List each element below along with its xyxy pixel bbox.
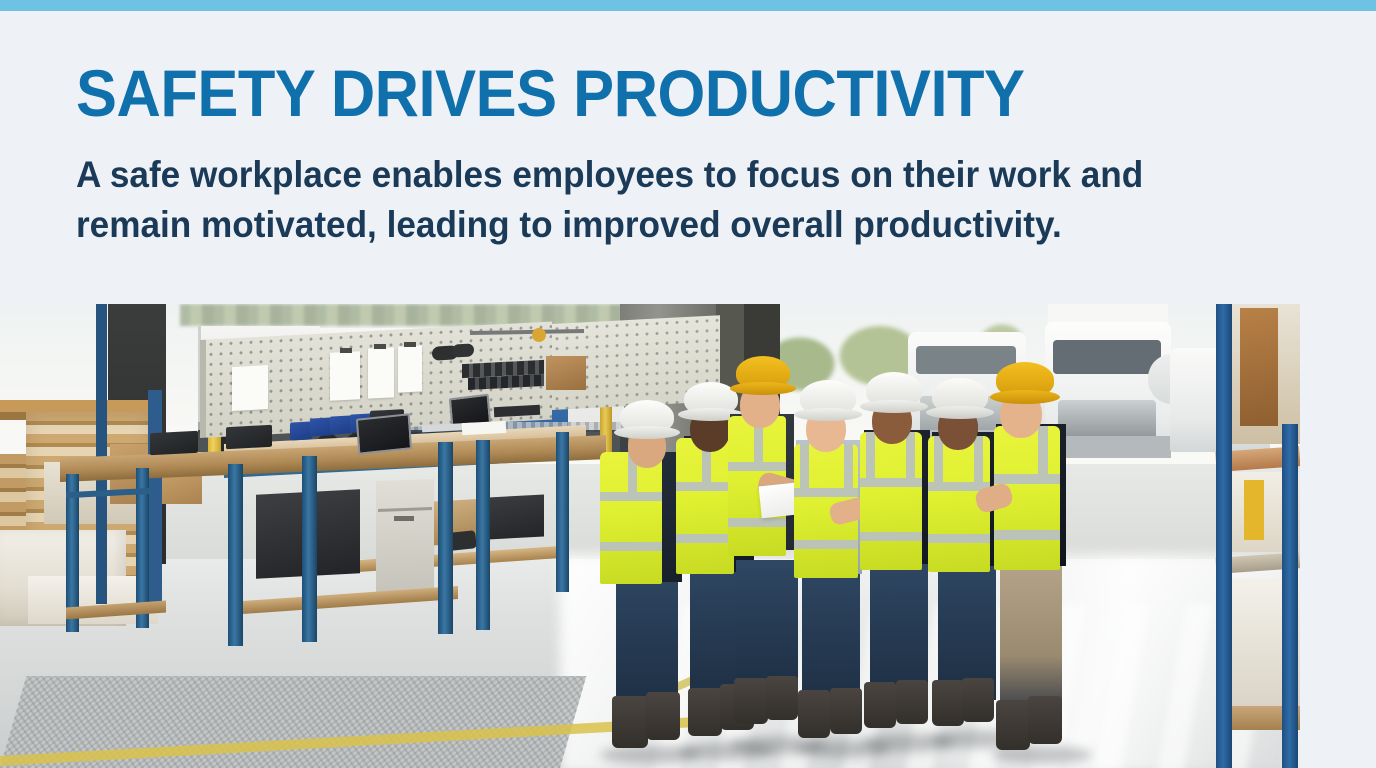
carton-on-bench xyxy=(546,356,586,390)
header-block: SAFETY DRIVES PRODUCTIVITY A safe workpl… xyxy=(76,58,1306,250)
worker-4-boot-right xyxy=(830,688,862,734)
slide-canvas: SAFETY DRIVES PRODUCTIVITY A safe workpl… xyxy=(0,0,1376,768)
bench-drawer-handle xyxy=(394,516,414,521)
page-title: SAFETY DRIVES PRODUCTIVITY xyxy=(76,58,1220,128)
bench-drawer-unit xyxy=(376,479,434,593)
worker-7-vest-band-2 xyxy=(994,530,1060,540)
worker-7-vest-band-1 xyxy=(994,474,1060,484)
truck-2-grille xyxy=(1058,400,1156,440)
worker-2-vest-band-1 xyxy=(676,482,734,491)
worker-5-vest-band-3 xyxy=(866,432,875,478)
bench-leg-2b xyxy=(302,456,317,642)
rack-post-right-2 xyxy=(1282,424,1298,768)
pegboard-document-3 xyxy=(368,347,394,398)
tool-bin-dark-1 xyxy=(226,425,272,449)
worker-5-vest-band-1 xyxy=(860,478,922,487)
bench-leg-2 xyxy=(228,464,243,646)
worker-6-boot-right xyxy=(962,678,994,722)
tool-crate xyxy=(488,495,544,540)
ear-defenders-icon-2 xyxy=(452,343,474,357)
parts-bin-blue-1 xyxy=(290,421,312,440)
carton-brown-right xyxy=(1240,308,1278,426)
worker-5-vest-band-2 xyxy=(860,532,922,541)
worker-5-boot-right xyxy=(896,680,928,724)
worker-5-hardhat-brim xyxy=(860,400,928,413)
parts-bin-blue-2 xyxy=(310,417,332,436)
worker-1-legs xyxy=(616,568,678,712)
photo-right-background xyxy=(1300,304,1376,768)
worker-1-boot-right xyxy=(646,692,680,740)
worker-4-hardhat-brim xyxy=(794,408,862,421)
worker-6-vest-band-2 xyxy=(928,534,990,543)
worker-1-boot-left xyxy=(612,696,648,748)
worker-6-boot-left xyxy=(932,680,964,726)
worker-5-vest-band-4 xyxy=(906,432,915,478)
worker-5-boot-left xyxy=(864,682,896,728)
accent-bar xyxy=(0,0,1376,11)
worker-7-boot-left xyxy=(996,700,1030,750)
worker-6-vest-band-3 xyxy=(934,436,943,482)
worker-4-vest-band-1 xyxy=(794,488,858,497)
worker-7-boot-right xyxy=(1028,696,1062,744)
pegboard-document-4 xyxy=(398,345,422,392)
worker-3-boot-left xyxy=(734,678,768,724)
worker-6-vest-band-4 xyxy=(974,436,983,482)
worker-3-legs xyxy=(736,560,798,694)
truck-2-windscreen xyxy=(1053,340,1161,374)
worker-4-vest-band-3 xyxy=(800,444,809,488)
tape-measure-icon xyxy=(532,328,546,342)
worker-3-boot-right xyxy=(766,676,798,720)
rack-post-left-2 xyxy=(96,304,107,604)
paper-on-bench xyxy=(462,421,507,435)
tool-bin-dark-2 xyxy=(150,431,198,456)
clipboard-clip-2 xyxy=(374,344,386,349)
worker-7-hardhat-brim xyxy=(990,390,1060,404)
worker-4-vest-band-2 xyxy=(794,540,858,549)
worker-3-vest-band-1 xyxy=(728,462,786,471)
worker-1-hardhat-brim xyxy=(614,426,680,439)
bench-leg-3b xyxy=(476,440,490,630)
worker-2-boot-left xyxy=(688,688,722,736)
scene-photo xyxy=(0,304,1300,768)
worker-4-boot-left xyxy=(798,690,830,738)
clipboard-clip-3 xyxy=(404,342,416,347)
worker-1-vest-band-2 xyxy=(600,542,662,551)
worker-3-vest-band-2 xyxy=(728,518,786,527)
worker-7-vest-band-3 xyxy=(1038,426,1048,474)
pegboard-document-2 xyxy=(330,351,360,401)
rack-post-left xyxy=(148,390,162,610)
worker-3-hardhat-brim xyxy=(730,382,796,395)
worker-1-vest-band-1 xyxy=(600,492,662,501)
tablet-device-1 xyxy=(356,413,412,455)
bench-leg-3 xyxy=(438,442,453,634)
rack-post-right-1 xyxy=(1216,304,1232,768)
clipboard-clip-1 xyxy=(340,348,352,353)
bench-leg-4 xyxy=(556,432,569,592)
worker-6-hardhat-brim xyxy=(926,406,994,419)
pegboard-document-1 xyxy=(232,365,268,411)
worker-4-vest-band-4 xyxy=(844,444,853,488)
subtitle-text: A safe workplace enables employees to fo… xyxy=(76,150,1245,250)
worker-2-vest-band-2 xyxy=(676,534,734,543)
rack-yellow-item xyxy=(1244,480,1264,540)
parts-bin-blue-3 xyxy=(330,415,352,434)
